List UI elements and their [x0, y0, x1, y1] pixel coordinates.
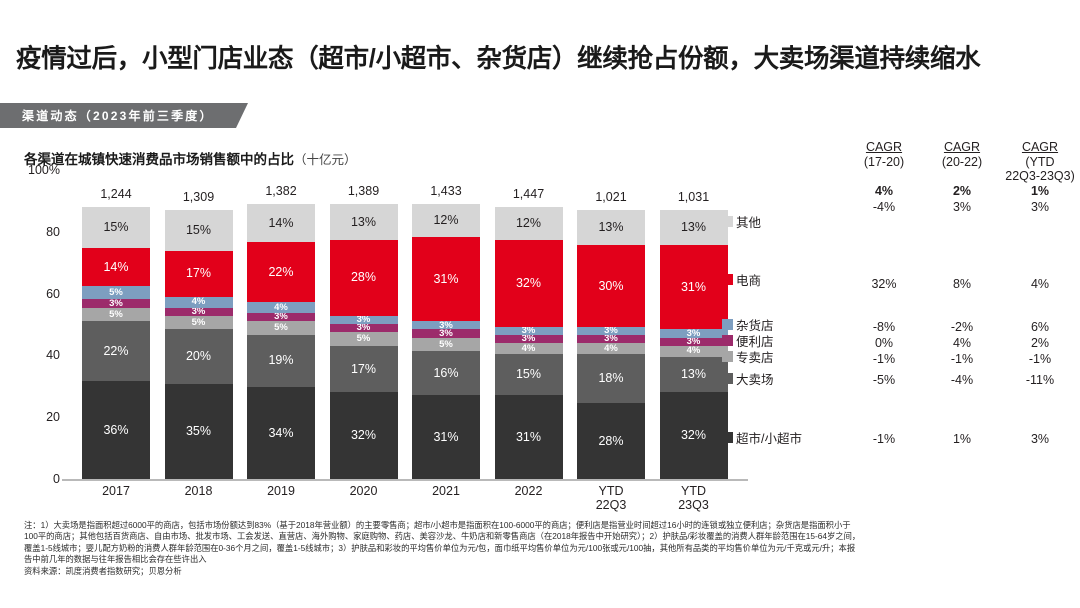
bar-column[interactable]: 32%13%4%3%3%31%13%1,031YTD23Q3: [660, 170, 728, 479]
y-axis-tick: 100%: [16, 163, 60, 177]
bar-segment[interactable]: 15%: [165, 210, 233, 251]
chart-subtitle: 各渠道在城镇快速消费品市场销售额中的占比（十亿元）: [24, 148, 357, 168]
bar-segment[interactable]: 13%: [577, 210, 645, 245]
bar-total-label: 1,244: [82, 187, 150, 201]
bar-segment-value: 13%: [681, 221, 706, 234]
bar-segment[interactable]: 31%: [660, 245, 728, 329]
bar-segment-value: 35%: [186, 425, 211, 438]
bar-segment-value: 4%: [522, 344, 536, 354]
cagr-header-title: CAGR: [1022, 140, 1058, 154]
bar-column[interactable]: 34%19%5%3%4%22%14%1,3822019: [247, 170, 315, 479]
y-axis-tick: 60: [16, 287, 60, 301]
chart-subtitle-unit: （十亿元）: [294, 153, 357, 167]
bar-segment[interactable]: 12%: [495, 207, 563, 240]
bar-segment[interactable]: 4%: [165, 297, 233, 308]
bar-segment[interactable]: 35%: [165, 384, 233, 479]
bar-segment-value: 32%: [516, 277, 541, 290]
bar-segment-value: 36%: [103, 424, 128, 437]
bar-segment[interactable]: 17%: [165, 251, 233, 297]
legend-item-label: 其他: [736, 212, 761, 231]
bar-segment[interactable]: 5%: [330, 332, 398, 346]
bar-segment[interactable]: 15%: [82, 207, 150, 248]
bar-segment[interactable]: 19%: [247, 335, 315, 387]
footnote-line: 注：1）大卖场是指面积超过6000平的商店，包括市场份额达到83%（基于2018…: [24, 520, 1064, 531]
bar-segment[interactable]: 3%: [660, 338, 728, 346]
bar-segment[interactable]: 4%: [577, 343, 645, 354]
chart-subtitle-main: 各渠道在城镇快速消费品市场销售额中的占比: [24, 152, 294, 167]
cagr-value: -4%: [845, 200, 923, 214]
bar-segment[interactable]: 4%: [247, 302, 315, 313]
cagr-column-header: CAGR(17-20): [845, 140, 923, 169]
bar-segment[interactable]: 16%: [412, 351, 480, 395]
bar-column[interactable]: 36%22%5%3%5%14%15%1,2442017: [82, 170, 150, 479]
bar-segment-value: 3%: [439, 329, 453, 337]
legend-swatch-icon: [722, 274, 733, 285]
bar-segment-value: 3%: [109, 299, 123, 307]
bar-segment[interactable]: 5%: [82, 308, 150, 322]
footnotes: 注：1）大卖场是指面积超过6000平的商店，包括市场份额达到83%（基于2018…: [24, 520, 1064, 577]
legend-item-label: 电商: [736, 270, 761, 289]
bar-total-label: 1,382: [247, 184, 315, 198]
cagr-value: -8%: [845, 320, 923, 334]
bar-segment-value: 14%: [103, 261, 128, 274]
bar-segment-value: 19%: [268, 354, 293, 367]
bar-segment[interactable]: 17%: [330, 346, 398, 392]
bar-segment[interactable]: 32%: [660, 392, 728, 479]
bar-segment[interactable]: 32%: [330, 392, 398, 479]
bar-segment-value: 5%: [109, 310, 123, 320]
bar-segment-value: 3%: [439, 321, 453, 329]
cagr-value: -11%: [1001, 373, 1079, 387]
cagr-value: -2%: [923, 320, 1001, 334]
bar-segment-value: 4%: [687, 346, 701, 356]
cagr-header-title: CAGR: [866, 140, 902, 154]
bar-segment-value: 13%: [681, 368, 706, 381]
bar-segment-value: 4%: [274, 303, 288, 313]
bar-column[interactable]: 32%17%5%3%3%28%13%1,3892020: [330, 170, 398, 479]
y-axis: 020406080100%: [14, 170, 60, 490]
bar-segment[interactable]: 18%: [577, 354, 645, 403]
bar-segment-value: 5%: [274, 323, 288, 333]
bar-segment-value: 5%: [439, 340, 453, 350]
bar-segment-value: 15%: [516, 368, 541, 381]
y-axis-tick: 20: [16, 410, 60, 424]
bar-segment[interactable]: 31%: [412, 395, 480, 479]
bar-segment[interactable]: 12%: [412, 204, 480, 237]
cagr-value: 3%: [923, 200, 1001, 214]
bar-segment[interactable]: 4%: [660, 346, 728, 357]
section-tag-banner: 渠道动态（2023年前三季度）: [0, 103, 236, 128]
bar-segment[interactable]: 5%: [82, 286, 150, 300]
bar-segment[interactable]: 3%: [577, 335, 645, 343]
footnote-line: 告中前几年的数据与往年报告相比会存在些许出入: [24, 554, 1064, 565]
cagr-value: 8%: [923, 277, 1001, 291]
cagr-column-header: CAGR(20-22): [923, 140, 1001, 169]
bar-segment-value: 17%: [351, 363, 376, 376]
legend-swatch-icon: [722, 432, 733, 443]
cagr-value: 2%: [923, 184, 1001, 198]
bar-column[interactable]: 31%16%5%3%3%31%12%1,4332021: [412, 170, 480, 479]
bar-segment-value: 28%: [598, 435, 623, 448]
bar-segment-value: 12%: [433, 214, 458, 227]
legend-swatch-icon: [722, 216, 733, 227]
bar-segment-value: 3%: [604, 327, 618, 335]
bar-segment-value: 30%: [598, 280, 623, 293]
legend-item-label: 超市/小超市: [736, 428, 802, 447]
bar-total-label: 1,021: [577, 190, 645, 204]
bar-total-label: 1,031: [660, 190, 728, 204]
cagr-value: 3%: [1001, 432, 1079, 446]
section-tag-label: 渠道动态（2023年前三季度）: [22, 107, 214, 124]
legend-swatch-icon: [722, 351, 733, 362]
bar-segment-value: 32%: [681, 429, 706, 442]
bar-segment[interactable]: 20%: [165, 329, 233, 383]
bar-segment-value: 12%: [516, 217, 541, 230]
cagr-value: 4%: [845, 184, 923, 198]
cagr-value: -1%: [923, 352, 1001, 366]
bar-segment[interactable]: 13%: [330, 204, 398, 239]
cagr-value: 3%: [1001, 200, 1079, 214]
bar-segment-value: 31%: [516, 431, 541, 444]
bar-segment-value: 4%: [604, 344, 618, 354]
bar-segment[interactable]: 3%: [495, 327, 563, 335]
page-title: 疫情过后，小型门店业态（超市/小超市、杂货店）继续抢占份额，大卖场渠道持续缩水: [16, 38, 1076, 75]
bar-segment-value: 14%: [268, 217, 293, 230]
bar-segment-value: 3%: [522, 327, 536, 335]
bar-segment-value: 13%: [351, 216, 376, 229]
legend-item[interactable]: 其他: [722, 212, 761, 231]
bar-segment[interactable]: 28%: [577, 403, 645, 479]
bar-segment-value: 3%: [522, 335, 536, 343]
bar-segment[interactable]: 22%: [247, 242, 315, 302]
bar-segment-value: 31%: [433, 431, 458, 444]
bar-segment[interactable]: 15%: [495, 354, 563, 395]
bar-segment-value: 22%: [268, 266, 293, 279]
x-axis-line: [62, 479, 748, 481]
cagr-value: 4%: [923, 336, 1001, 350]
cagr-value: 1%: [1001, 184, 1079, 198]
y-axis-tick: 0: [16, 472, 60, 486]
bar-segment-value: 34%: [268, 427, 293, 440]
bar-segment-value: 3%: [357, 324, 371, 332]
bar-segment-value: 20%: [186, 350, 211, 363]
bar-segment[interactable]: 3%: [247, 313, 315, 321]
bar-segment[interactable]: 3%: [82, 299, 150, 307]
bar-segment-value: 31%: [433, 273, 458, 286]
bar-segment-value: 18%: [598, 372, 623, 385]
x-axis-tick: 2021: [412, 484, 480, 498]
bar-segment[interactable]: 3%: [495, 335, 563, 343]
legend-item-label: 专卖店: [736, 347, 774, 366]
bar-total-label: 1,389: [330, 184, 398, 198]
legend-item[interactable]: 超市/小超市: [722, 428, 802, 447]
cagr-value: -5%: [845, 373, 923, 387]
bar-total-label: 1,309: [165, 190, 233, 204]
bar-column[interactable]: 35%20%5%3%4%17%15%1,3092018: [165, 170, 233, 479]
footnote-line: 资料来源：凯度消费者指数研究；贝恩分析: [24, 566, 1064, 577]
legend-item-label: 大卖场: [736, 369, 774, 388]
bar-segment[interactable]: 3%: [330, 324, 398, 332]
x-axis-tick: 2020: [330, 484, 398, 498]
bar-segment-value: 5%: [192, 318, 206, 328]
bar-segment[interactable]: 30%: [577, 245, 645, 327]
bar-segment-value: 3%: [604, 335, 618, 343]
cagr-value: 1%: [923, 432, 1001, 446]
bar-segment-value: 3%: [192, 308, 206, 316]
bar-segment-value: 4%: [192, 297, 206, 307]
cagr-value: 2%: [1001, 336, 1079, 350]
bar-total-label: 1,447: [495, 187, 563, 201]
bar-segment-value: 13%: [598, 221, 623, 234]
bar-segment[interactable]: 4%: [495, 343, 563, 354]
legend-swatch-icon: [722, 373, 733, 384]
bar-segment[interactable]: 31%: [495, 395, 563, 479]
bar-segment[interactable]: 5%: [165, 316, 233, 330]
bar-segment[interactable]: 13%: [660, 210, 728, 245]
x-axis-tick: 2018: [165, 484, 233, 498]
bar-segment-value: 3%: [687, 338, 701, 346]
legend-item[interactable]: 专卖店: [722, 347, 774, 366]
x-axis-tick: 2019: [247, 484, 315, 498]
cagr-value: -1%: [1001, 352, 1079, 366]
bar-segment-value: 28%: [351, 271, 376, 284]
y-axis-tick: 80: [16, 225, 60, 239]
legend-swatch-icon: [722, 335, 733, 346]
cagr-table: CAGR(17-20)CAGR(20-22)CAGR(YTD22Q3-23Q3)…: [845, 140, 1080, 490]
y-axis-tick: 40: [16, 348, 60, 362]
bar-total-label: 1,433: [412, 184, 480, 198]
bar-segment-value: 3%: [687, 329, 701, 337]
bar-segment[interactable]: 36%: [82, 381, 150, 479]
cagr-value: 0%: [845, 336, 923, 350]
bar-segment-value: 3%: [357, 316, 371, 324]
bar-segment-value: 15%: [186, 224, 211, 237]
bar-segment[interactable]: 14%: [82, 248, 150, 286]
bar-column[interactable]: 28%18%4%3%3%30%13%1,021YTD22Q3: [577, 170, 645, 479]
bar-segment-value: 3%: [274, 313, 288, 321]
bar-segment-value: 5%: [357, 334, 371, 344]
stacked-bar-chart: 020406080100% 36%22%5%3%5%14%15%1,244201…: [0, 170, 760, 490]
x-axis-tick: YTD23Q3: [660, 484, 728, 512]
bar-segment[interactable]: 3%: [330, 316, 398, 324]
cagr-value: 4%: [1001, 277, 1079, 291]
x-axis-tick: 2017: [82, 484, 150, 498]
bar-segment-value: 15%: [103, 221, 128, 234]
cagr-header-title: CAGR: [944, 140, 980, 154]
footnote-line: 100平的商店；其他包括百货商店、自由市场、批发市场、工会发送、直营店、海外购物…: [24, 531, 1064, 542]
bar-segment-value: 16%: [433, 367, 458, 380]
legend-swatch-icon: [722, 319, 733, 330]
bar-segment[interactable]: 14%: [247, 204, 315, 242]
legend-item[interactable]: 电商: [722, 270, 761, 289]
bar-segment-value: 5%: [109, 288, 123, 298]
bar-column[interactable]: 31%15%4%3%3%32%12%1,4472022: [495, 170, 563, 479]
bar-segment[interactable]: 34%: [247, 387, 315, 479]
bar-segment[interactable]: 5%: [412, 338, 480, 352]
bar-segment[interactable]: 22%: [82, 321, 150, 381]
bar-segment[interactable]: 3%: [412, 329, 480, 337]
bar-segment[interactable]: 3%: [412, 321, 480, 329]
bar-segment[interactable]: 5%: [247, 321, 315, 335]
legend-item[interactable]: 大卖场: [722, 369, 774, 388]
x-axis-tick: 2022: [495, 484, 563, 498]
bar-segment[interactable]: 3%: [660, 329, 728, 337]
x-axis-tick: YTD22Q3: [577, 484, 645, 512]
bar-segment-value: 32%: [351, 429, 376, 442]
cagr-column-header: CAGR(YTD22Q3-23Q3): [1001, 140, 1079, 184]
footnote-line: 覆盖1-5线城市；婴儿配方奶粉的消费人群年龄范围在0-36个月之间，覆盖1-5线…: [24, 543, 1064, 554]
cagr-value: 6%: [1001, 320, 1079, 334]
bar-segment[interactable]: 28%: [330, 240, 398, 316]
bar-segment-value: 22%: [103, 345, 128, 358]
bar-segment[interactable]: 3%: [165, 308, 233, 316]
bar-segment[interactable]: 3%: [577, 327, 645, 335]
bar-segment-value: 31%: [681, 281, 706, 294]
cagr-value: -4%: [923, 373, 1001, 387]
cagr-value: -1%: [845, 432, 923, 446]
bar-segment[interactable]: 32%: [495, 240, 563, 327]
bar-segment[interactable]: 13%: [660, 357, 728, 392]
cagr-value: -1%: [845, 352, 923, 366]
cagr-value: 32%: [845, 277, 923, 291]
bar-segment-value: 17%: [186, 267, 211, 280]
chart-legend: 其他电商杂货店便利店专卖店大卖场超市/小超市: [722, 170, 842, 490]
bar-segment[interactable]: 31%: [412, 237, 480, 321]
